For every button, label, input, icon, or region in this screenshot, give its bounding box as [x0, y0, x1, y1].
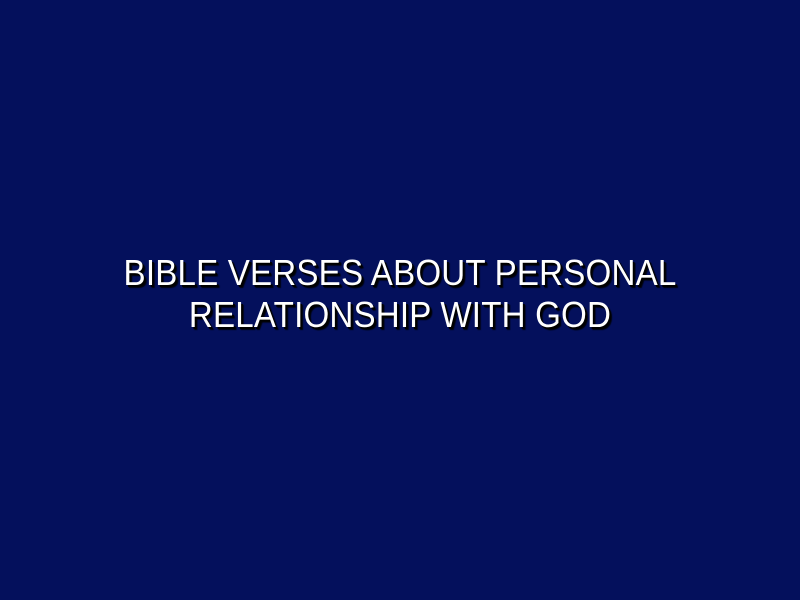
title-line-2: RELATIONSHIP WITH GOD — [69, 294, 731, 336]
title-line-1: BIBLE VERSES ABOUT PERSONAL — [69, 252, 731, 294]
title-block: BIBLE VERSES ABOUT PERSONAL RELATIONSHIP… — [0, 252, 800, 336]
slide-canvas: BIBLE VERSES ABOUT PERSONAL RELATIONSHIP… — [0, 0, 800, 600]
